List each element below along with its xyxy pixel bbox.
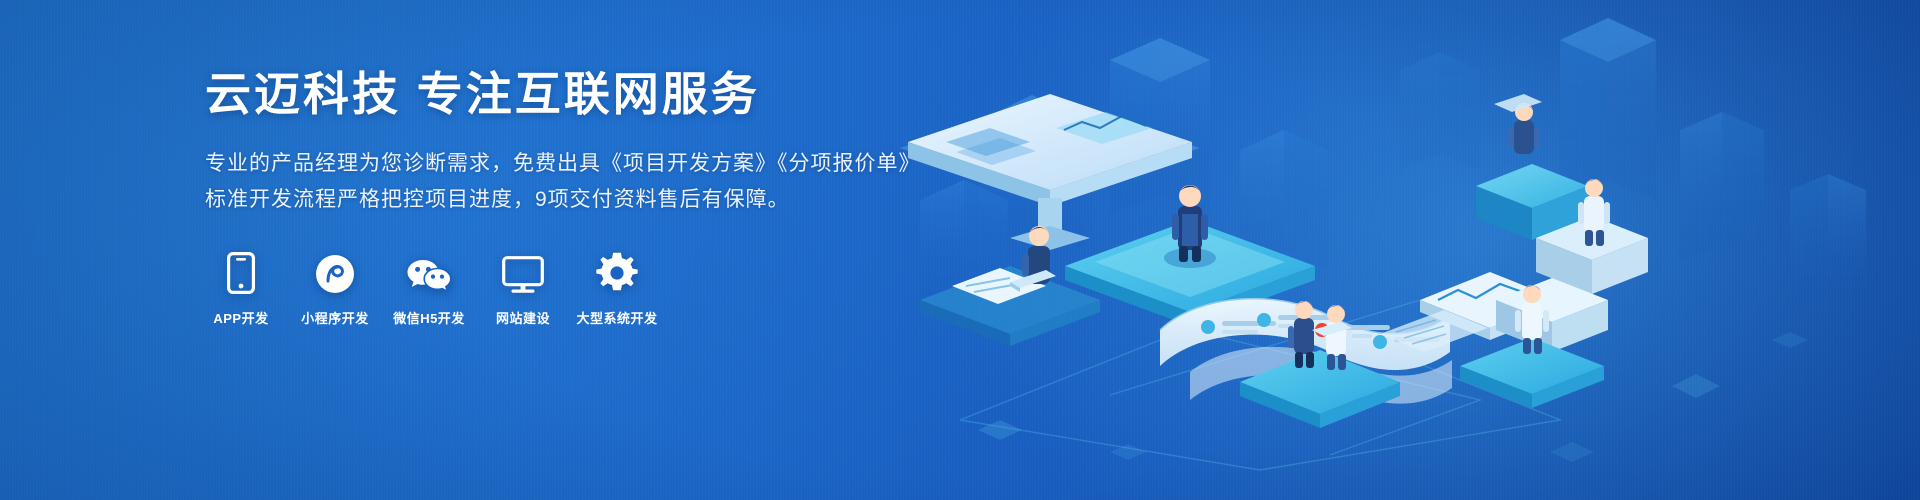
banner-copy: 云迈科技 专注互联网服务 专业的产品经理为您诊断需求，免费出具《项目开发方案》《… [205, 66, 925, 327]
person-sitting-top [1494, 94, 1542, 154]
service-label-website: 网站建设 [496, 308, 550, 327]
service-label-wechat: 微信H5开发 [393, 308, 465, 327]
service-item-app[interactable]: APP开发 [205, 252, 277, 327]
service-list: APP开发 小程序开发 [205, 252, 925, 327]
mobile-phone-icon [227, 252, 255, 294]
service-item-wechat[interactable]: 微信H5开发 [393, 252, 465, 327]
isometric-illustration [860, 0, 1920, 500]
service-item-miniprogram[interactable]: 小程序开发 [299, 252, 371, 327]
stepped-cubes [1476, 164, 1648, 352]
monitor-icon [502, 252, 544, 294]
service-label-system: 大型系统开发 [577, 308, 658, 327]
service-item-system[interactable]: 大型系统开发 [581, 252, 653, 327]
wechat-icon [406, 252, 452, 294]
service-item-website[interactable]: 网站建设 [487, 252, 559, 327]
gear-icon [596, 252, 638, 294]
subtitle-line-1: 专业的产品经理为您诊断需求，免费出具《项目开发方案》《分项报价单》 [205, 146, 925, 182]
subtitle-line-2: 标准开发流程严格把控项目进度，9项交付资料售后有保障。 [205, 182, 925, 218]
service-label-app: APP开发 [213, 308, 268, 327]
banner-subtitle: 专业的产品经理为您诊断需求，免费出具《项目开发方案》《分项报价单》 标准开发流程… [205, 146, 925, 218]
service-label-miniprogram: 小程序开发 [301, 308, 369, 327]
page-title: 云迈科技 专注互联网服务 [205, 66, 925, 124]
hero-banner: 云迈科技 专注互联网服务 专业的产品经理为您诊断需求，免费出具《项目开发方案》《… [0, 0, 1920, 500]
mini-program-icon [315, 252, 355, 294]
